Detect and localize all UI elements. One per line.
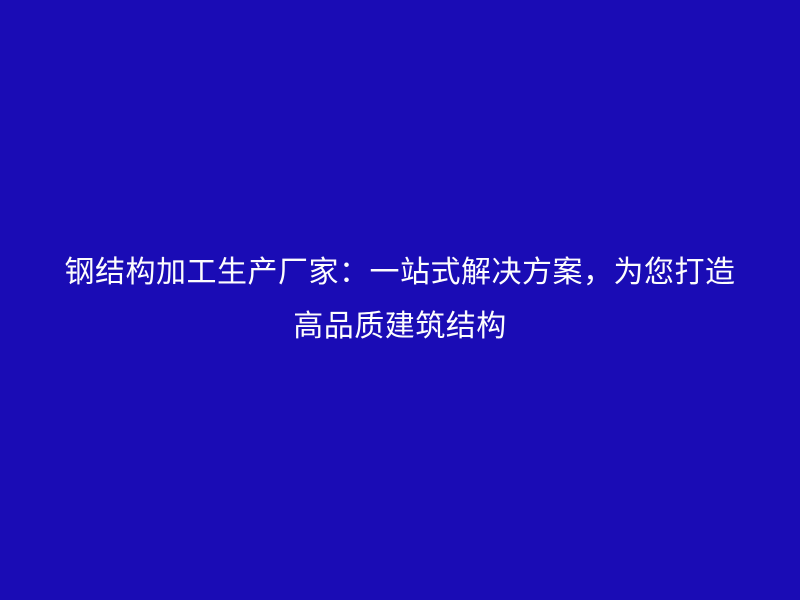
headline-block: 钢结构加工生产厂家：一站式解决方案，为您打造高品质建筑结构	[50, 246, 750, 354]
banner-container: 钢结构加工生产厂家：一站式解决方案，为您打造高品质建筑结构	[0, 0, 800, 600]
page-title: 钢结构加工生产厂家：一站式解决方案，为您打造高品质建筑结构	[50, 246, 750, 354]
